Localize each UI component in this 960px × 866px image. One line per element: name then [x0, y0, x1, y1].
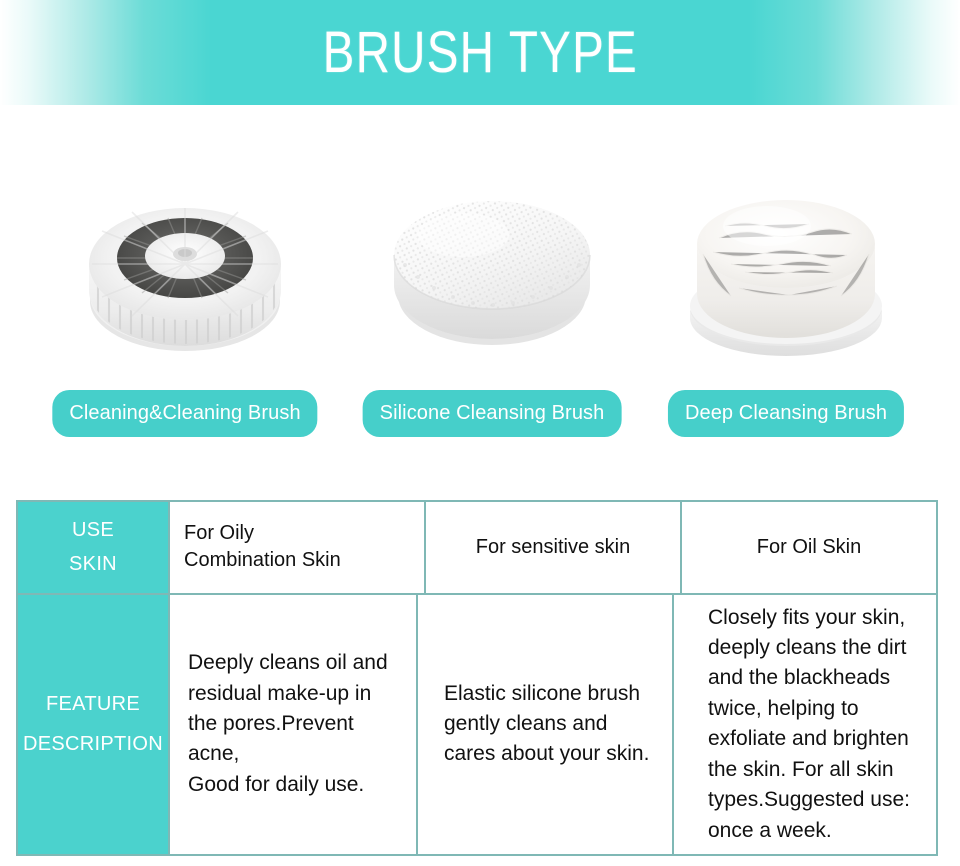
- row-label-line-2: DESCRIPTION: [23, 734, 163, 754]
- cell-line: For Oil Skin: [757, 534, 861, 561]
- cell-line: types.Suggested use:: [708, 785, 910, 815]
- cell-line: deeply cleans the dirt: [708, 633, 906, 663]
- cell-line: Closely fits your skin,: [708, 603, 905, 633]
- cell-line: For Oily: [184, 520, 254, 547]
- product-label-3: Deep Cleansing Brush: [668, 390, 904, 437]
- product-label-1: Cleaning&Cleaning Brush: [52, 390, 317, 437]
- product-label-2: Silicone Cleansing Brush: [363, 390, 622, 437]
- product-item-1: Cleaning&Cleaning Brush: [25, 105, 345, 460]
- cell-line: and the blackheads: [708, 663, 890, 693]
- use-skin-cell-2: For sensitive skin: [424, 502, 680, 593]
- feature-cell-1: Deeply cleans oil and residual make-up i…: [168, 595, 416, 855]
- cell-line: the pores.Prevent acne,: [188, 709, 402, 770]
- comparison-table: USE SKIN For Oily Combination Skin For s…: [16, 500, 938, 856]
- cell-line: cares about your skin.: [444, 739, 649, 769]
- feature-cell-2: Elastic silicone brush gently cleans and…: [416, 595, 672, 855]
- feature-cell-3: Closely fits your skin, deeply cleans th…: [672, 595, 936, 855]
- row-label-use-skin: USE SKIN: [18, 502, 168, 593]
- row-label-line-1: FEATURE: [46, 694, 140, 714]
- bristle-brush-head-icon: [25, 145, 345, 385]
- table-row-feature-description: FEATURE DESCRIPTION Deeply cleans oil an…: [18, 593, 936, 855]
- row-label-line-1: USE: [72, 520, 114, 540]
- header-banner: BRUSH TYPE: [0, 0, 960, 105]
- sponge-puck-brush-head-icon: [626, 145, 946, 385]
- cell-line: exfoliate and brighten: [708, 724, 909, 754]
- cell-line: Good for daily use.: [188, 770, 364, 800]
- cell-line: once a week.: [708, 816, 832, 846]
- product-item-2: Silicone Cleansing Brush: [332, 105, 652, 460]
- cell-line: Deeply cleans oil and: [188, 648, 388, 678]
- cell-line: For sensitive skin: [476, 534, 631, 561]
- page-title: BRUSH TYPE: [322, 24, 637, 82]
- product-item-3: Deep Cleansing Brush: [626, 105, 946, 460]
- cell-line: gently cleans and: [444, 709, 607, 739]
- cell-line: twice, helping to: [708, 694, 859, 724]
- cell-line: Elastic silicone brush: [444, 679, 640, 709]
- row-label-line-2: SKIN: [69, 554, 117, 574]
- row-label-feature-description: FEATURE DESCRIPTION: [18, 595, 168, 855]
- product-row: Cleaning&Cleaning Brush: [0, 105, 960, 460]
- cell-line: residual make-up in: [188, 679, 371, 709]
- brush-type-infographic: BRUSH TYPE: [0, 0, 960, 866]
- silicone-brush-head-icon: [332, 145, 652, 385]
- table-row-use-skin: USE SKIN For Oily Combination Skin For s…: [18, 502, 936, 593]
- use-skin-cell-1: For Oily Combination Skin: [168, 502, 424, 593]
- use-skin-cell-3: For Oil Skin: [680, 502, 936, 593]
- cell-line: Combination Skin: [184, 547, 341, 574]
- cell-line: the skin. For all skin: [708, 755, 894, 785]
